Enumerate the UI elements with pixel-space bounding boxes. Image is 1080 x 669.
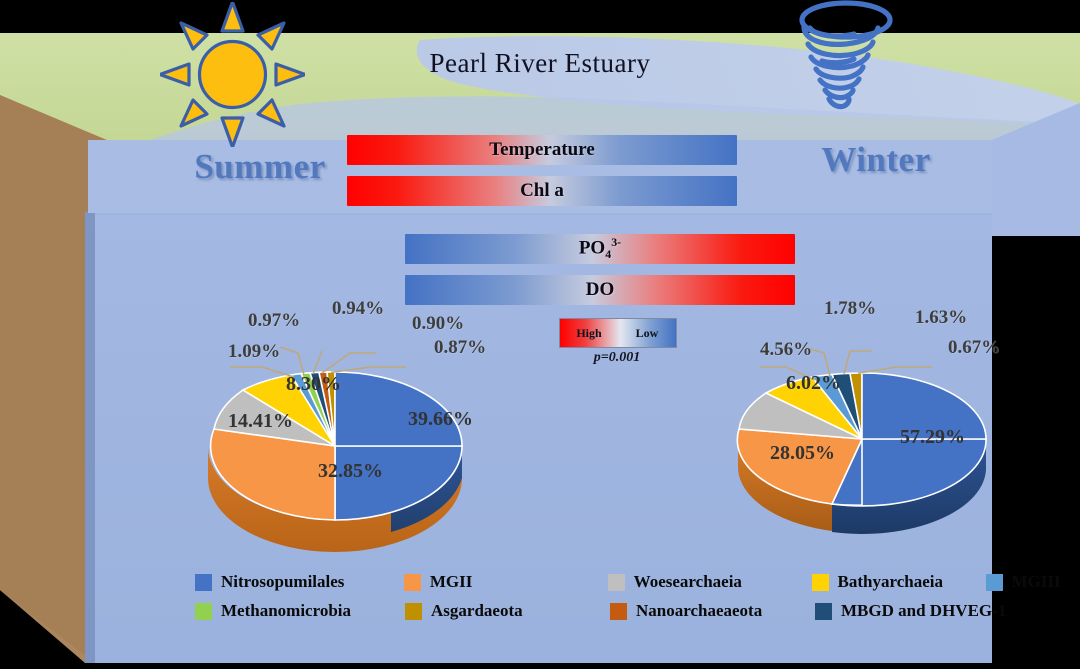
legend-label-woesearchaeia: Woesearchaeia (634, 572, 742, 592)
high-low-color-key: High Low (559, 318, 677, 348)
summer-label-mgii: 32.85% (318, 460, 383, 483)
winter-pie (720, 347, 1010, 552)
summer-label-asgardaeota: 0.87% (434, 337, 486, 359)
legend-item-mbgd-dhveg1: MBGD and DHVEG-1 (815, 601, 1055, 621)
legend-label-nanoarchaeaeota: Nanoarchaeaeota (636, 601, 762, 621)
legend-row-1: Nitrosopumilales MGII Woesearchaeia Bath… (195, 572, 1075, 592)
p-value-annotation: p=0.001 (559, 350, 675, 366)
legend-label-mbgd-dhveg1: MBGD and DHVEG-1 (841, 601, 1006, 621)
legend-item-asgardaeota: Asgardaeota (405, 601, 610, 621)
legend-swatch-mgii (404, 574, 421, 591)
gradient-bar-phosphate: PO43- (405, 234, 795, 264)
winter-label-mbgd: 1.63% (915, 307, 967, 329)
season-label-winter: Winter (786, 140, 966, 180)
legend-label-asgardaeota: Asgardaeota (431, 601, 523, 621)
legend-row-2: Methanomicrobia Asgardaeota Nanoarchaeae… (195, 601, 1075, 621)
page-title: Pearl River Estuary (0, 48, 1080, 79)
gradient-bar-dissolved-oxygen: DO (405, 275, 795, 305)
legend-item-nanoarchaeaeota: Nanoarchaeaeota (610, 601, 815, 621)
legend-swatch-bathyarchaeia (812, 574, 829, 591)
gradient-bar-dissolved-oxygen-label: DO (586, 279, 615, 301)
legend-item-methanomicrobia: Methanomicrobia (195, 601, 405, 621)
legend-swatch-nitrosopumilales (195, 574, 212, 591)
legend-label-mgiii: MGIII (1012, 572, 1061, 592)
legend-swatch-nanoarchaeaeota (610, 603, 627, 620)
gradient-bar-chla: Chl a (347, 176, 737, 206)
legend-label-nitrosopumilales: Nitrosopumilales (221, 572, 344, 592)
gradient-bar-phosphate-label: PO43- (579, 235, 621, 262)
gradient-bar-chla-label: Chl a (520, 180, 564, 202)
summer-label-methanomicrobia: 0.97% (248, 310, 300, 332)
winter-label-mgii: 28.05% (770, 442, 835, 465)
summer-label-bathyarchaeia: 8.30% (286, 373, 341, 396)
legend-item-woesearchaeia: Woesearchaeia (608, 572, 812, 592)
legend-label-methanomicrobia: Methanomicrobia (221, 601, 351, 621)
summer-label-mgiii: 1.09% (228, 341, 280, 363)
winter-label-asgardaeota: 0.67% (948, 337, 1000, 359)
legend-item-nitrosopumilales: Nitrosopumilales (195, 572, 404, 592)
legend-swatch-mbgd-dhveg1 (815, 603, 832, 620)
legend-item-mgii: MGII (404, 572, 608, 592)
legend-item-mgiii: MGIII (986, 572, 1075, 592)
legend-item-bathyarchaeia: Bathyarchaeia (812, 572, 986, 592)
summer-label-nanoarchaeaeota: 0.90% (412, 313, 464, 335)
winter-label-nitrosopumilales: 57.29% (900, 426, 965, 449)
legend-label-mgii: MGII (430, 572, 473, 592)
legend-swatch-woesearchaeia (608, 574, 625, 591)
legend-label-bathyarchaeia: Bathyarchaeia (838, 572, 943, 592)
gradient-bar-temperature-label: Temperature (489, 139, 595, 161)
key-low-label: Low (618, 326, 676, 341)
legend-swatch-methanomicrobia (195, 603, 212, 620)
legend-swatch-asgardaeota (405, 603, 422, 620)
winter-label-bathyarchaeia: 4.56% (760, 339, 812, 361)
winter-label-woesearchaeia: 6.02% (786, 372, 841, 395)
gradient-bar-temperature: Temperature (347, 135, 737, 165)
summer-label-mbgd: 0.94% (332, 298, 384, 320)
legend-swatch-mgiii (986, 574, 1003, 591)
winter-label-mgiii: 1.78% (824, 298, 876, 320)
summer-label-nitrosopumilales: 39.66% (408, 408, 473, 431)
figure-canvas: Pearl River Estuary Summer Winter Temper… (0, 0, 1080, 669)
key-high-label: High (560, 326, 618, 341)
taxa-legend: Nitrosopumilales MGII Woesearchaeia Bath… (195, 572, 1075, 630)
season-label-summer: Summer (170, 147, 350, 187)
summer-label-woesearchaeia: 14.41% (228, 410, 293, 433)
